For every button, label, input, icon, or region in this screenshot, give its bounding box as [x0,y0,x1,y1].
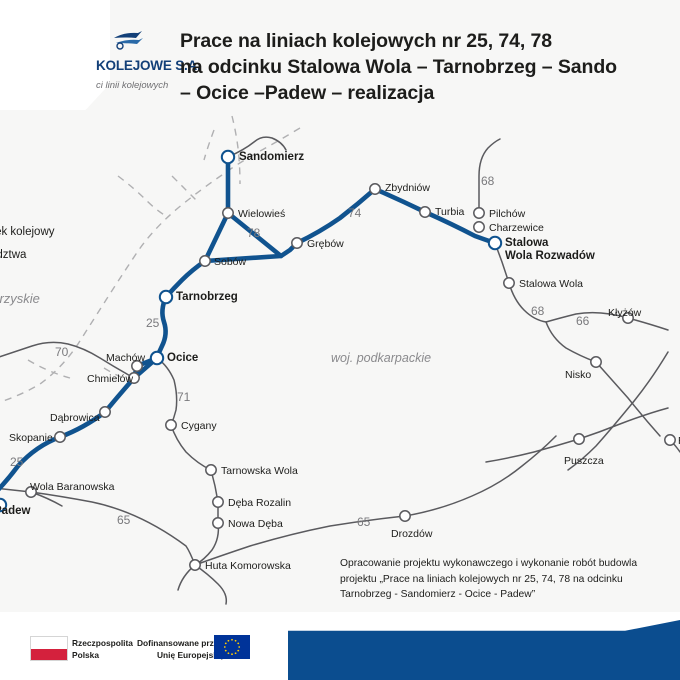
station-label: Drozdów [391,528,432,540]
poland-label: Rzeczpospolita Polska [72,638,133,661]
station-node [55,432,65,442]
pkp-plk-logo-card [0,0,110,110]
station-label: Huta Komorowska [205,560,291,572]
station-label: Wielowieś [238,208,285,220]
caption-line-2: projektu „Prace na liniach kolejowych nr… [340,572,680,588]
station-node [420,207,430,217]
eu-funding-label: Dofinansowane przez Unię Europejską [137,638,223,661]
station-node [474,208,484,218]
station-node [190,560,200,570]
station-node [151,352,163,364]
station-label: Turbia [435,206,464,218]
station-node [160,291,172,303]
station-node [400,511,410,521]
legend-item-station: rzystanek kolejowy [0,226,55,238]
eu-star [228,652,230,654]
title-line-1: Prace na liniach kolejowych nr 25, 74, 7… [180,28,680,54]
eu-label-line-2: Unię Europejską [137,650,223,662]
title-line-3: – Ocice –Padew – realizacja [180,80,680,106]
station-label: Dąbrowica [50,412,100,424]
line-number-label: 65 [117,513,130,527]
station-label: Tarnobrzeg [176,291,238,303]
railway-map-infographic: KOLEJOWE S.A. ci linii kolejowych Prace … [0,0,680,680]
region-label-swietokrzyskie: iętokrzyskie [0,291,40,306]
station-label: Machów [106,352,145,364]
station-label: Sandomierz [239,151,304,163]
project-caption: Opracowanie projektu wykonawczego i wyko… [340,556,680,603]
station-node [489,237,501,249]
eu-star [231,653,233,655]
line-number-label: 74 [348,206,361,220]
station-node [474,222,484,232]
eu-star [231,639,233,641]
station-node [200,256,210,266]
station-label: Grębów [307,238,344,250]
station-label: Stalowa Wola [519,278,583,290]
station-node [166,420,176,430]
station-label: Ocice [167,352,198,364]
caption-line-1: Opracowanie projektu wykonawczego i wyko… [340,556,680,572]
region-label-podkarpackie: woj. podkarpackie [331,351,431,365]
station-node [504,278,514,288]
station-node [574,434,584,444]
eu-star [224,646,226,648]
line-number-label: 66 [576,314,589,328]
eu-label-line-1: Dofinansowane przez [137,638,223,650]
page-title: Prace na liniach kolejowych nr 25, 74, 7… [180,28,680,106]
station-node [222,151,234,163]
station-node [100,407,110,417]
line-number-label: 25 [10,455,23,469]
station-node [213,518,223,528]
station-label-line: Stalowa [505,237,595,250]
station-node [370,184,380,194]
eu-star [225,643,227,645]
line-number-label: 68 [481,174,494,188]
flag-stripe-white [31,637,67,649]
station-label: StalowaWola Rozwadów [505,237,595,263]
station-label: Cygany [181,420,217,432]
logo-tagline: ci linii kolejowych [96,80,168,91]
station-node [223,208,233,218]
station-node [591,357,601,367]
line-number-label: 68 [531,304,544,318]
station-label: Skopanie [9,432,53,444]
station-label: Padew [0,505,30,517]
station-label: Wola Baranowska [30,481,114,493]
winged-wheel-logo-icon [112,30,146,50]
title-line-2: na odcinku Stalowa Wola – Tarnobrzeg – S… [180,54,680,80]
line-number-label: 65 [357,515,370,529]
european-union-flag-icon [214,635,250,659]
line-number-label: 71 [177,390,190,404]
station-node [665,435,675,445]
station-label: Dęba Rozalin [228,497,291,509]
line-number-label: 78 [247,226,260,240]
legend-item-voivodeship-border: województwa [0,249,26,261]
line-number-label: 70 [55,345,68,359]
station-label-line: Wola Rozwadów [505,250,595,263]
station-node [206,465,216,475]
flag-stripe-red [31,649,67,661]
station-node [213,497,223,507]
poland-flag-icon [30,636,68,661]
poland-label-line-2: Polska [72,650,133,662]
station-label: Puszcza [564,455,604,467]
station-label: Sobów [214,256,246,268]
station-label: Tarnowska Wola [221,465,298,477]
station-label: Nisko [565,369,591,381]
station-label: Kłyżów [608,307,641,319]
eu-star [235,640,237,642]
eu-star [225,650,227,652]
eu-star [228,640,230,642]
station-label: Chmielów [87,373,133,385]
line-number-label: 25 [146,316,159,330]
eu-star [238,646,240,648]
eu-star [237,643,239,645]
station-label: Zbydniów [385,182,430,194]
eu-star [235,652,237,654]
poland-label-line-1: Rzeczpospolita [72,638,133,650]
station-label: Nowa Dęba [228,518,283,530]
station-label: Charzewice [489,222,544,234]
eu-star [237,650,239,652]
station-label: Pilchów [489,208,525,220]
station-node [292,238,302,248]
caption-line-3: Tarnobrzeg - Sandomierz - Ocice - Padew” [340,587,680,603]
